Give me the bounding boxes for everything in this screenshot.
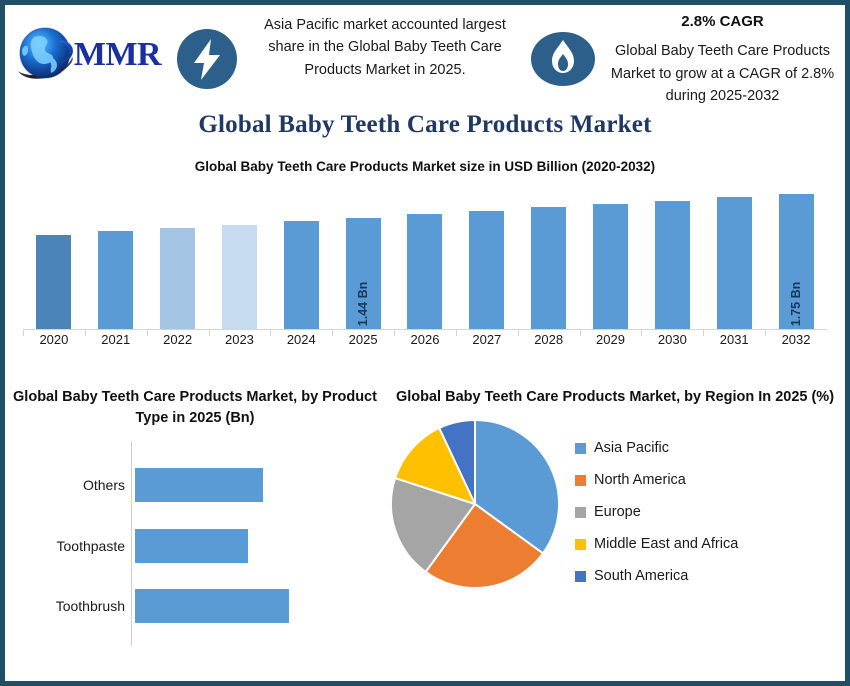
bar: 1.44 Bn: [346, 218, 381, 329]
legend-label: Asia Pacific: [594, 440, 669, 456]
bar-chart-title: Global Baby Teeth Care Products Market s…: [5, 159, 845, 174]
bar-slot: [703, 182, 765, 329]
bar-value-label: 1.44 Bn: [356, 282, 370, 326]
lightning-bolt-icon: [170, 5, 244, 109]
logo-wordmark: MMR: [74, 36, 161, 74]
bar-chart-axis: [23, 329, 827, 330]
hbar-row: Toothbrush: [21, 589, 327, 623]
flame-icon: [526, 5, 600, 109]
legend-label: South America: [594, 568, 688, 584]
bar-slot: [270, 182, 332, 329]
bar-slot: [85, 182, 147, 329]
bar-slot: [641, 182, 703, 329]
pie-legend: Asia PacificNorth AmericaEuropeMiddle Ea…: [561, 418, 845, 600]
bar: [407, 214, 442, 329]
pie-area: Asia PacificNorth AmericaEuropeMiddle Ea…: [385, 418, 845, 600]
hbar-category-label: Toothpaste: [21, 538, 135, 554]
header-left-note: Asia Pacific market accounted largest sh…: [244, 5, 526, 81]
bar: [531, 207, 566, 329]
bar-x-label: 2026: [394, 332, 456, 352]
hbar-track: [135, 468, 327, 502]
bar-slot: [518, 182, 580, 329]
bar-x-label: 2027: [456, 332, 518, 352]
hbar-category-label: Others: [21, 477, 135, 493]
bar: [222, 225, 257, 329]
hbar-track: [135, 589, 327, 623]
legend-item: Middle East and Africa: [575, 536, 845, 552]
bar-x-label: 2029: [580, 332, 642, 352]
bar-chart-plot: 1.44 Bn1.75 Bn 2020202120222023202420252…: [23, 182, 827, 352]
hbar-row: Toothpaste: [21, 529, 327, 563]
market-size-bar-chart: Global Baby Teeth Care Products Market s…: [5, 155, 845, 380]
bar: [160, 228, 195, 329]
legend-item: Europe: [575, 504, 845, 520]
bar: [593, 204, 628, 329]
bar-x-label: 2030: [641, 332, 703, 352]
bar: 1.75 Bn: [779, 194, 814, 329]
bar: [655, 201, 690, 329]
header-bar: MMR Asia Pacific market accounted larges…: [5, 5, 845, 110]
infographic-page: MMR Asia Pacific market accounted larges…: [0, 0, 850, 686]
legend-swatch: [575, 475, 586, 486]
bar-slot: 1.44 Bn: [332, 182, 394, 329]
bar-slot: [147, 182, 209, 329]
bar-slot: [209, 182, 271, 329]
bar-x-label: 2022: [147, 332, 209, 352]
hbar-fill: [135, 468, 263, 502]
hbar-fill: [135, 529, 248, 563]
legend-item: North America: [575, 472, 845, 488]
legend-item: Asia Pacific: [575, 440, 845, 456]
bar-slot: [394, 182, 456, 329]
hbar-plot: OthersToothpasteToothbrush: [21, 441, 327, 646]
legend-swatch: [575, 443, 586, 454]
legend-label: Middle East and Africa: [594, 536, 738, 552]
hbar-track: [135, 529, 327, 563]
hbar-row: Others: [21, 468, 327, 502]
product-type-bar-chart: Global Baby Teeth Care Products Market, …: [5, 387, 385, 683]
legend-swatch: [575, 539, 586, 550]
bar: [36, 235, 71, 329]
bar-x-label: 2024: [270, 332, 332, 352]
bar-x-label: 2020: [23, 332, 85, 352]
bar-series: 1.44 Bn1.75 Bn: [23, 182, 827, 329]
bar-x-label: 2031: [703, 332, 765, 352]
bar: [469, 211, 504, 329]
bar-slot: 1.75 Bn: [765, 182, 827, 329]
region-pie-chart: Global Baby Teeth Care Products Market, …: [385, 387, 845, 683]
hbar-category-label: Toothbrush: [21, 598, 135, 614]
bar-slot: [23, 182, 85, 329]
hbar-fill: [135, 589, 289, 623]
mmr-logo: MMR: [5, 5, 170, 105]
bar-x-label: 2032: [765, 332, 827, 352]
page-title: Global Baby Teeth Care Products Market: [5, 111, 845, 139]
bar: [98, 231, 133, 329]
header-right-note: 2.8% CAGR Global Baby Teeth Care Product…: [600, 5, 845, 108]
bar-chart-x-labels: 2020202120222023202420252026202720282029…: [23, 332, 827, 352]
legend-swatch: [575, 507, 586, 518]
legend-swatch: [575, 571, 586, 582]
legend-label: North America: [594, 472, 686, 488]
cagr-description: Global Baby Teeth Care Products Market t…: [611, 43, 834, 104]
legend-label: Europe: [594, 504, 641, 520]
bar-slot: [456, 182, 518, 329]
bar-x-label: 2023: [209, 332, 271, 352]
legend-item: South America: [575, 568, 845, 584]
hbar-series: OthersToothpasteToothbrush: [21, 455, 327, 636]
pie-graphic: [391, 418, 561, 590]
bar-value-label: 1.75 Bn: [789, 282, 803, 326]
hbar-chart-title: Global Baby Teeth Care Products Market, …: [5, 387, 385, 429]
lower-charts-row: Global Baby Teeth Care Products Market, …: [5, 387, 845, 683]
bar-x-label: 2028: [518, 332, 580, 352]
cagr-value: 2.8% CAGR: [600, 10, 845, 33]
bar-x-label: 2025: [332, 332, 394, 352]
bar-slot: [580, 182, 642, 329]
bar: [717, 197, 752, 329]
bar-x-label: 2021: [85, 332, 147, 352]
bar: [284, 221, 319, 329]
pie-chart-title: Global Baby Teeth Care Products Market, …: [385, 387, 845, 408]
